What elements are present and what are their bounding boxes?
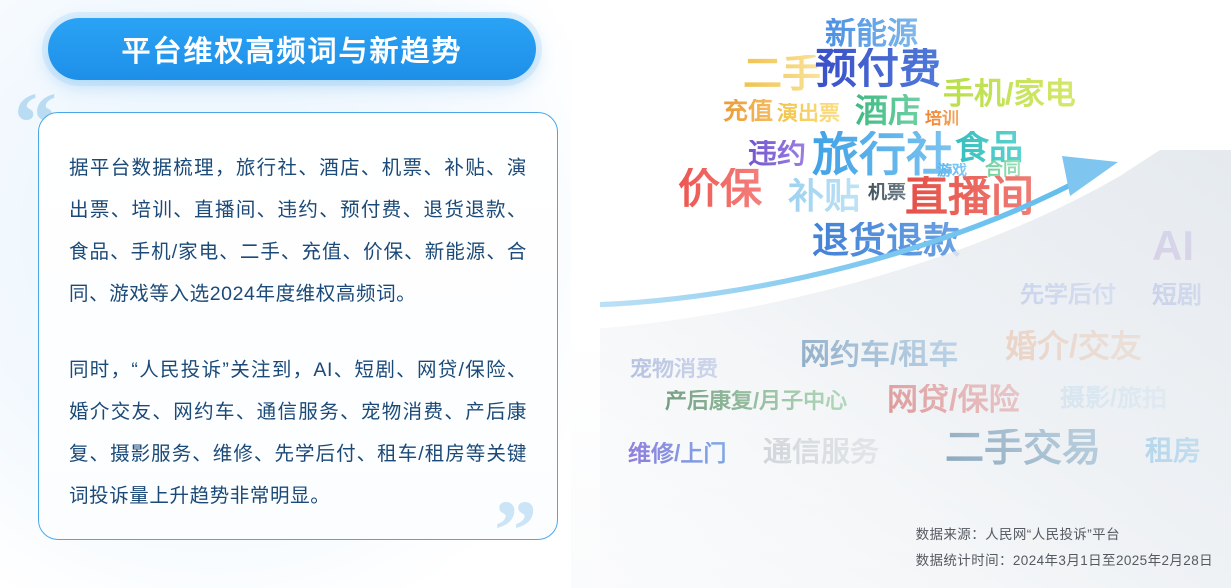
quote-close-icon: ” — [494, 496, 537, 565]
source-note: 数据来源：人民网“人民投诉”平台 数据统计时间：2024年3月1日至2025年2… — [916, 522, 1213, 574]
trend-arrow-icon — [600, 0, 1231, 588]
summary-paragraph-2: 同时，“人民投诉”关注到，AI、短剧、网贷/保险、婚介交友、网约车、通信服务、宠… — [69, 349, 527, 517]
page-title: 平台维权高频词与新趋势 — [121, 28, 462, 70]
wordcloud: 新能源二手预付费手机/家电充值演出票酒店培训违约旅行社食品游戏合同价保补贴机票直… — [600, 0, 1231, 588]
source-line-1: 数据来源：人民网“人民投诉”平台 — [916, 522, 1213, 548]
page-title-pill: 平台维权高频词与新趋势 — [48, 18, 536, 80]
summary-card: 据平台数据梳理，旅行社、酒店、机票、补贴、演出票、培训、直播间、违约、预付费、退… — [38, 112, 558, 540]
left-panel: 平台维权高频词与新趋势 “ 据平台数据梳理，旅行社、酒店、机票、补贴、演出票、培… — [0, 0, 600, 588]
source-line-2: 数据统计时间：2024年3月1日至2025年2月28日 — [916, 548, 1213, 574]
summary-paragraph-1: 据平台数据梳理，旅行社、酒店、机票、补贴、演出票、培训、直播间、违约、预付费、退… — [69, 147, 527, 315]
